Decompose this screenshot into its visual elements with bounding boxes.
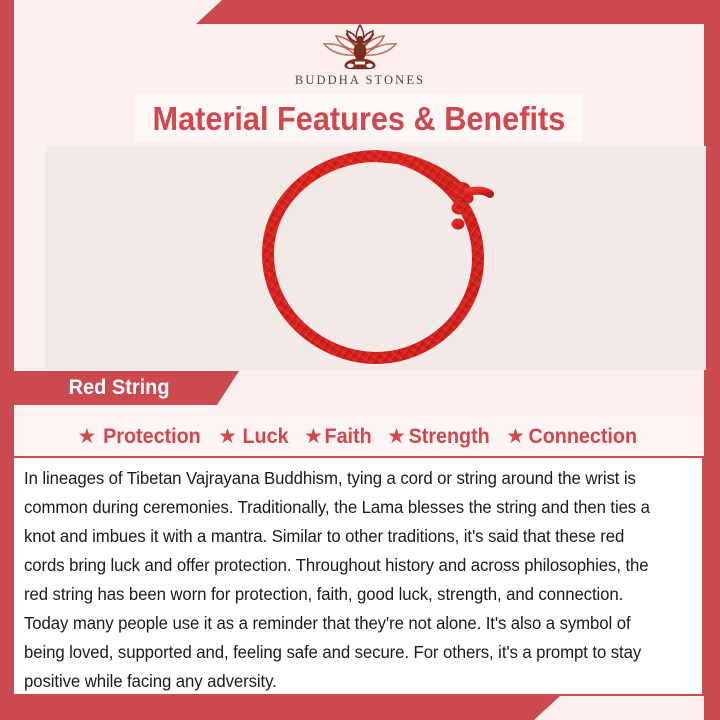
- left-red-border: [0, 0, 14, 720]
- feature-label: Faith: [324, 426, 371, 447]
- feature-item: ★ Protection: [78, 426, 205, 447]
- top-red-band: [196, 0, 720, 24]
- star-icon: ★: [78, 426, 97, 447]
- feature-item: ★ Faith: [304, 426, 373, 447]
- brand-logo: BUDDHA STONES: [0, 22, 720, 94]
- ribbon-shadow: [14, 405, 212, 410]
- product-label: Red String: [69, 376, 170, 400]
- feature-item: ★ Strength: [387, 426, 492, 447]
- star-icon: ★: [304, 426, 323, 447]
- feature-list: ★ Protection ★ Luck ★ Faith ★ Strength ★…: [14, 417, 704, 455]
- feature-label: Connection: [528, 426, 637, 447]
- description-panel: In lineages of Tibetan Vajrayana Buddhis…: [14, 456, 704, 696]
- poster-canvas: BUDDHA STONES Material Features & Benefi…: [0, 0, 720, 720]
- star-icon: ★: [218, 426, 237, 447]
- feature-label: Luck: [242, 426, 288, 447]
- bottom-red-band: [0, 696, 560, 720]
- feature-label: Strength: [408, 426, 489, 447]
- feature-item: ★ Luck: [218, 426, 290, 447]
- feature-item: ★ Connection: [506, 426, 640, 447]
- brand-name: BUDDHA STONES: [295, 73, 425, 88]
- red-braided-cord-bracelet: [46, 146, 706, 370]
- feature-label: Protection: [103, 426, 201, 447]
- star-icon: ★: [387, 426, 406, 447]
- description-text: In lineages of Tibetan Vajrayana Buddhis…: [24, 464, 663, 696]
- star-icon: ★: [506, 426, 525, 447]
- right-red-border: [704, 22, 720, 720]
- page-title-band: Material Features & Benefits: [135, 94, 583, 142]
- product-label-ribbon: Red String: [14, 371, 239, 405]
- lotus-meditation-icon: [314, 22, 406, 72]
- page-title: Material Features & Benefits: [153, 102, 566, 135]
- product-image: [46, 146, 706, 370]
